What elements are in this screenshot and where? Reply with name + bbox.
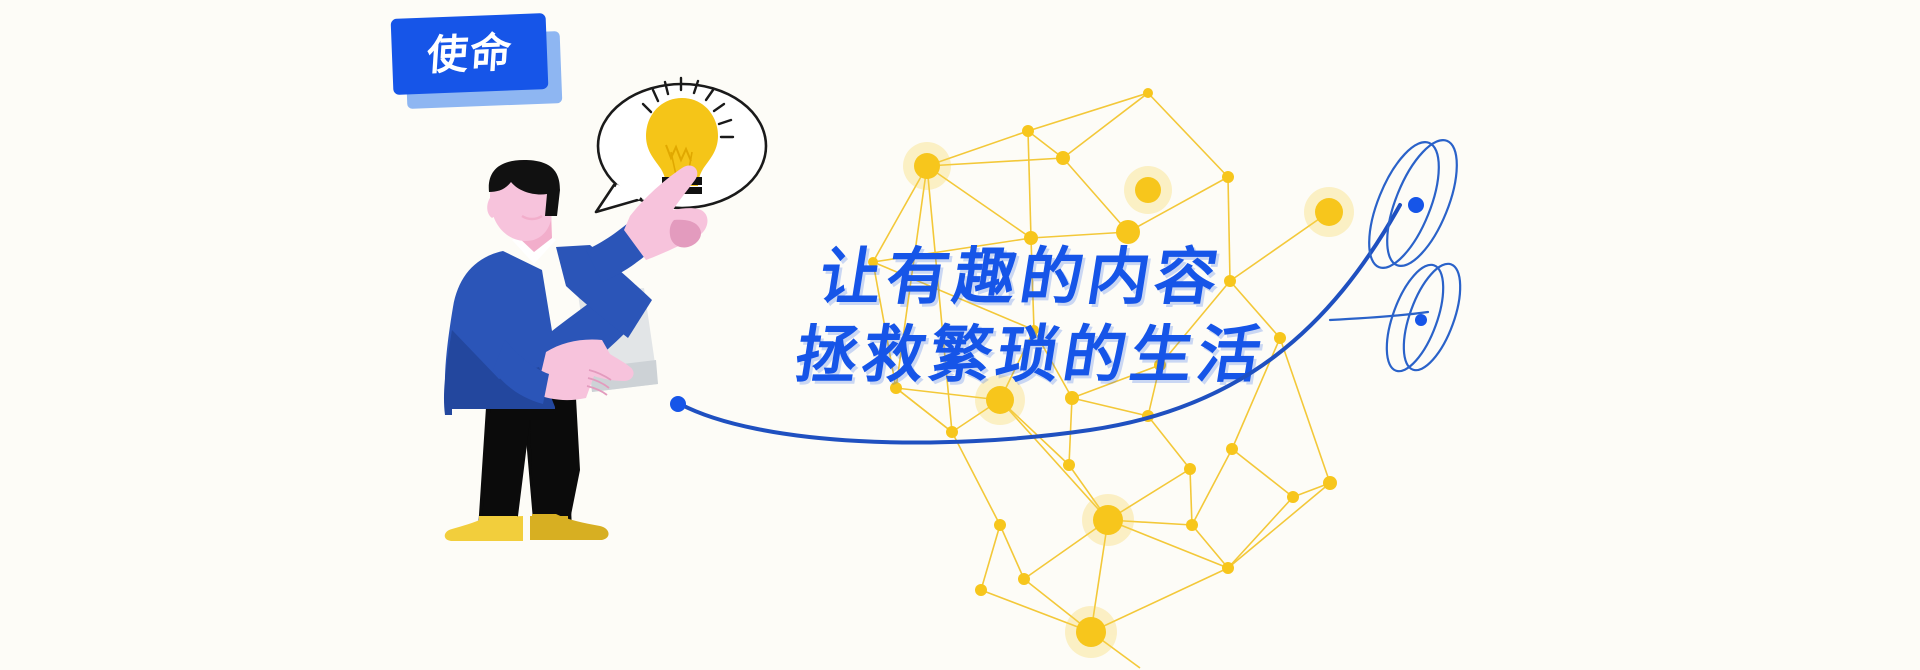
mission-banner: 让有趣的内容 拯救繁琐的生活 <box>0 0 1920 670</box>
orbit-upper-dot <box>1408 197 1424 213</box>
blue-swoosh-curve <box>680 205 1400 443</box>
orbit-lower-dot <box>1415 314 1427 326</box>
mission-badge: 使命 <box>392 16 562 106</box>
orbit-connector-lower <box>1330 312 1428 320</box>
mission-badge-label: 使命 <box>425 32 514 76</box>
blue-accents <box>0 0 1920 670</box>
mission-badge-plate: 使命 <box>391 13 549 95</box>
blue-swoosh-dot <box>670 396 686 412</box>
